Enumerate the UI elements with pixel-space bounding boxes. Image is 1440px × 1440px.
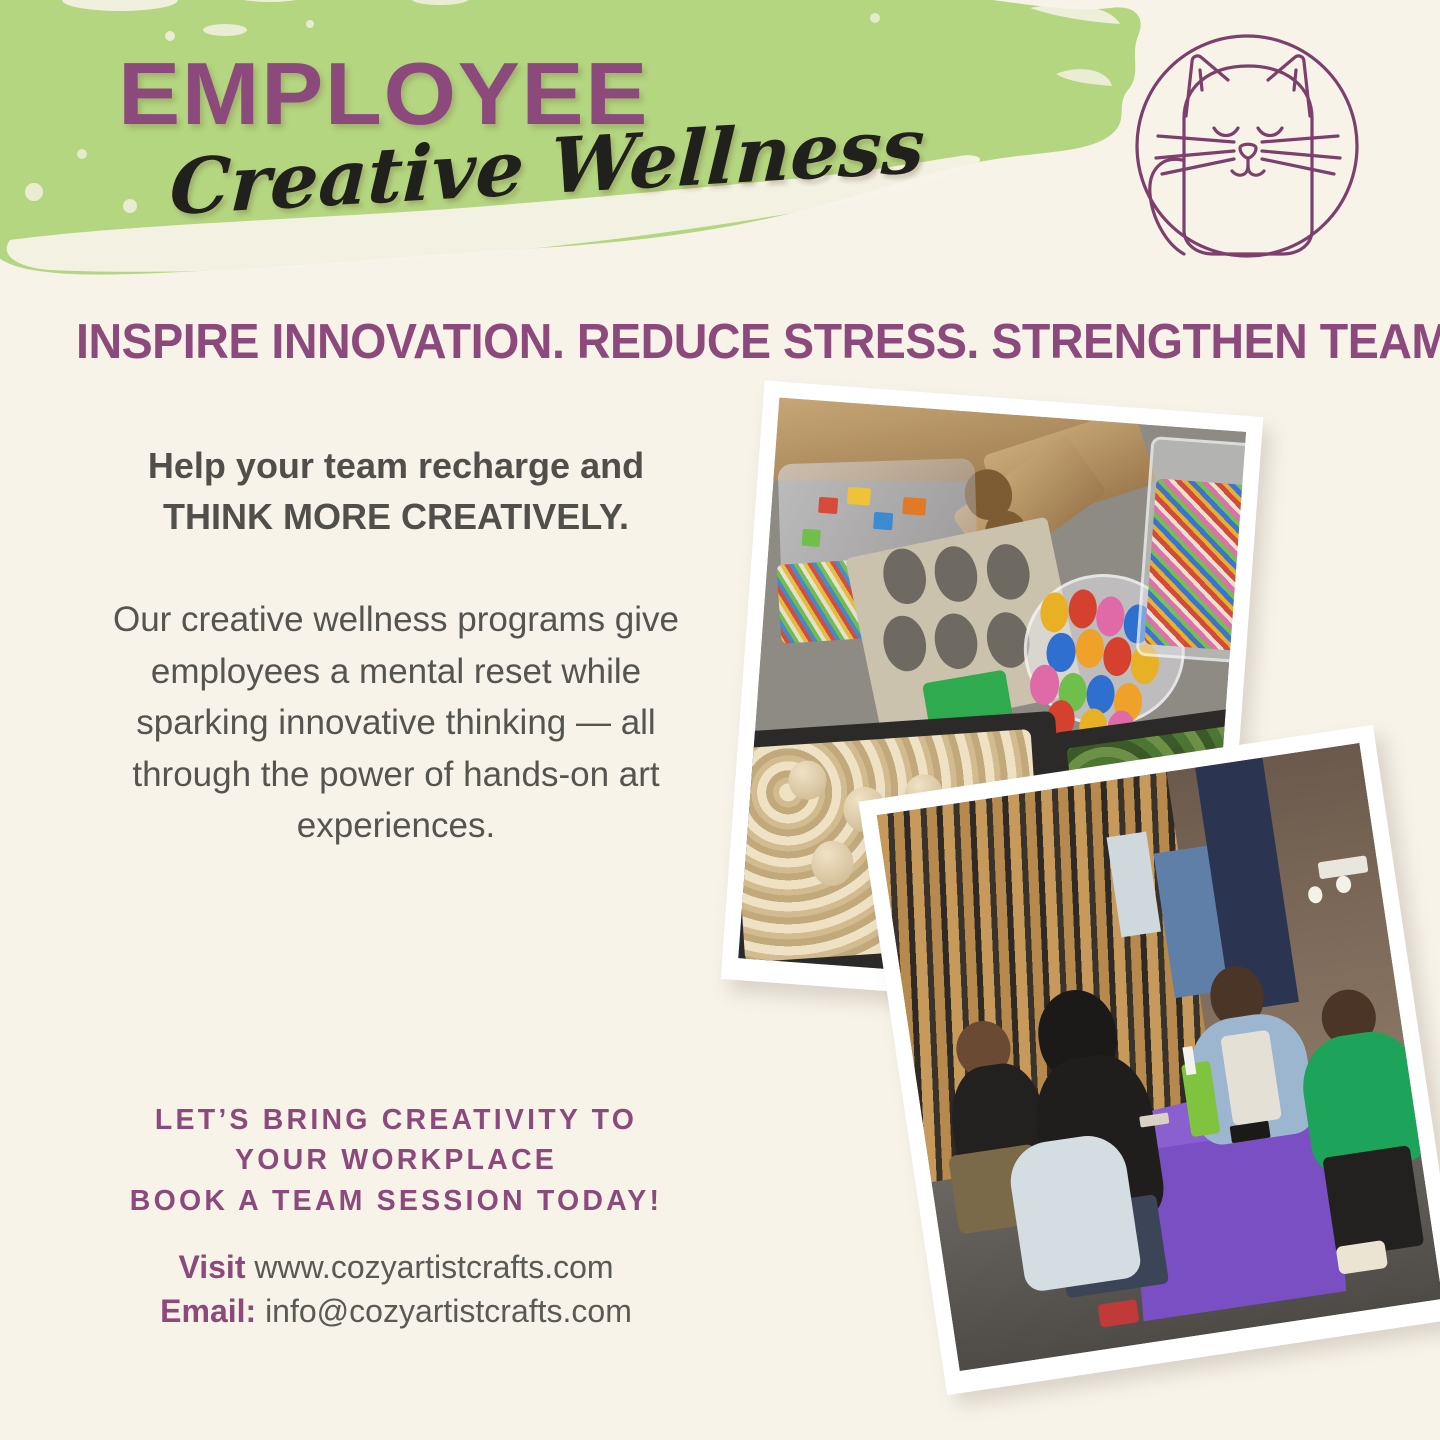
- email-address[interactable]: info@cozyartistcrafts.com: [265, 1293, 632, 1329]
- copy-column: Help your team recharge and THINK MORE C…: [86, 440, 706, 851]
- email-label: Email:: [160, 1293, 256, 1329]
- lede-text: Help your team recharge and THINK MORE C…: [86, 440, 706, 542]
- cta-block: LET’S BRING CREATIVITY TO YOUR WORKPLACE…: [86, 1100, 706, 1221]
- cta-line-2: YOUR WORKPLACE: [86, 1140, 706, 1180]
- cta-line-3: BOOK A TEAM SESSION TODAY!: [86, 1181, 706, 1221]
- email-line: Email: info@cozyartistcrafts.com: [86, 1289, 706, 1333]
- website-line: Visit www.cozyartistcrafts.com: [86, 1245, 706, 1289]
- cta-line-1: LET’S BRING CREATIVITY TO: [86, 1100, 706, 1140]
- body-paragraph: Our creative wellness programs give empl…: [86, 594, 706, 851]
- website-url[interactable]: www.cozyartistcrafts.com: [254, 1249, 613, 1285]
- team-workshop-image: [877, 743, 1440, 1371]
- contact-block: Visit www.cozyartistcrafts.com Email: in…: [86, 1245, 706, 1333]
- cat-logo-icon: [1122, 18, 1372, 278]
- tagline: INSPIRE INNOVATION. REDUCE STRESS. STREN…: [76, 318, 1330, 367]
- team-workshop-photo: [859, 725, 1440, 1395]
- visit-label: Visit: [178, 1249, 245, 1285]
- poster-canvas: EMPLOYEE Creative Wellness INSPIRE INNOV…: [0, 0, 1440, 1440]
